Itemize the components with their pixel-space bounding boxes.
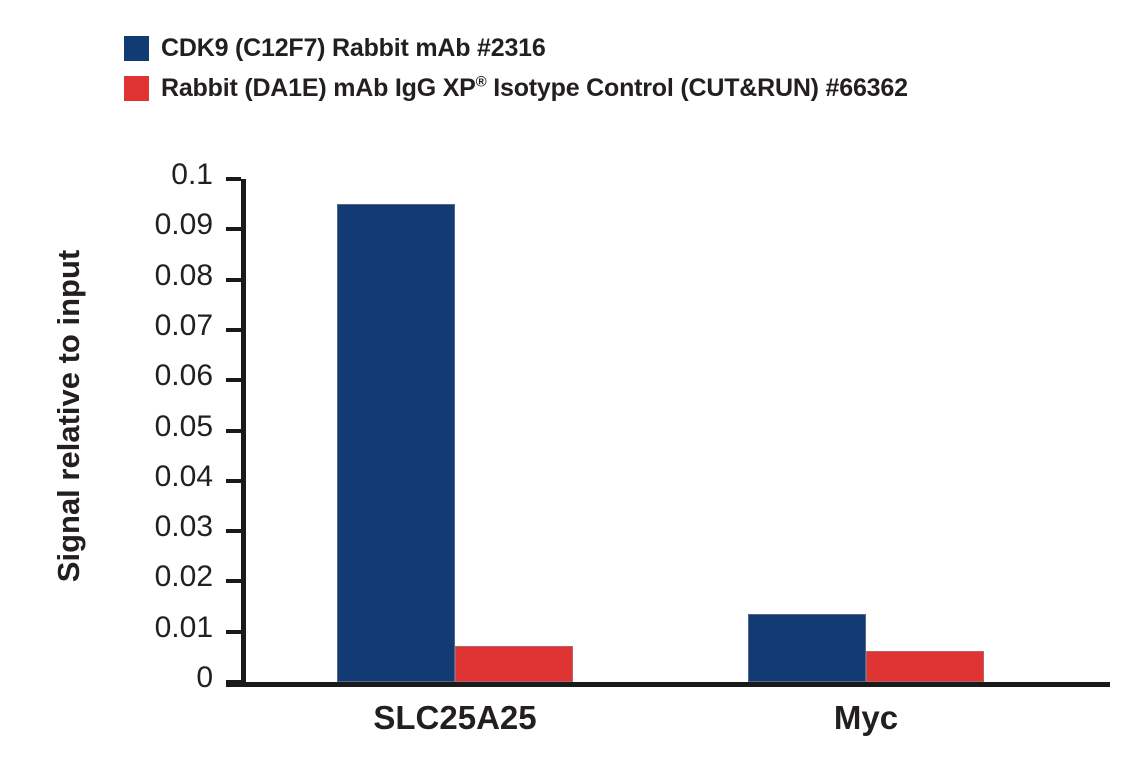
y-axis-tick (226, 328, 241, 332)
x-axis-category-label: SLC25A25 (373, 699, 536, 737)
y-axis-tick-label-text: 0.07 (155, 309, 213, 343)
y-axis-tick-label-text: 0.1 (171, 158, 213, 192)
y-axis-tick (226, 680, 241, 684)
legend-label-igg-head: Rabbit (DA1E) mAb IgG XP (161, 74, 476, 102)
y-axis-tick (226, 529, 241, 533)
registered-trademark-icon: ® (476, 73, 487, 90)
bar-myc-series2 (866, 651, 984, 682)
y-axis-tick-label-text: 0.09 (155, 208, 213, 242)
y-axis-tick-label-text: 0.01 (155, 611, 213, 645)
y-axis-tick-label-text: 0.04 (155, 460, 213, 494)
y-axis-tick (226, 177, 241, 181)
y-axis-tick-label-text: 0.08 (155, 259, 213, 293)
legend-item-igg-isotype-control: Rabbit (DA1E) mAb IgG XP® Isotype Contro… (124, 68, 1084, 108)
y-axis-tick (226, 227, 241, 231)
y-axis-tick-label-text: 0 (196, 661, 213, 695)
bar-slc25a25-series2 (455, 646, 573, 682)
y-axis-tick (226, 579, 241, 583)
legend-swatch-igg (124, 76, 149, 101)
x-axis-line (226, 682, 1110, 687)
y-axis-spine (241, 179, 246, 682)
y-axis-tick (226, 429, 241, 433)
legend-item-cdk9: CDK9 (C12F7) Rabbit mAb #2316 (124, 28, 1084, 68)
y-axis-title: Signal relative to input (46, 156, 92, 676)
y-axis-tick-label-text: 0.05 (155, 410, 213, 444)
x-axis-category-label: Myc (834, 699, 898, 737)
chart-legend: CDK9 (C12F7) Rabbit mAb #2316 Rabbit (DA… (124, 28, 1084, 108)
y-axis-tick (226, 630, 241, 634)
plot-area: 0.10.090.080.070.060.050.040.030.020.010… (245, 179, 1110, 682)
y-axis-tick (226, 479, 241, 483)
legend-label-igg-isotype-control: Rabbit (DA1E) mAb IgG XP® Isotype Contro… (161, 74, 908, 103)
bar-chart-figure: CDK9 (C12F7) Rabbit mAb #2316 Rabbit (DA… (0, 0, 1141, 768)
y-axis-tick-label-text: 0.02 (155, 560, 213, 594)
y-axis-tick (226, 278, 241, 282)
bar-slc25a25-series1 (337, 204, 455, 682)
y-axis-tick-label-text: 0.03 (155, 510, 213, 544)
y-axis-tick (226, 378, 241, 382)
legend-label-igg-tail: Isotype Control (CUT&RUN) #66362 (487, 74, 908, 102)
legend-swatch-cdk9 (124, 36, 149, 61)
bar-myc-series1 (748, 614, 866, 682)
legend-label-cdk9: CDK9 (C12F7) Rabbit mAb #2316 (161, 34, 546, 63)
y-axis-tick-label-text: 0.06 (155, 359, 213, 393)
